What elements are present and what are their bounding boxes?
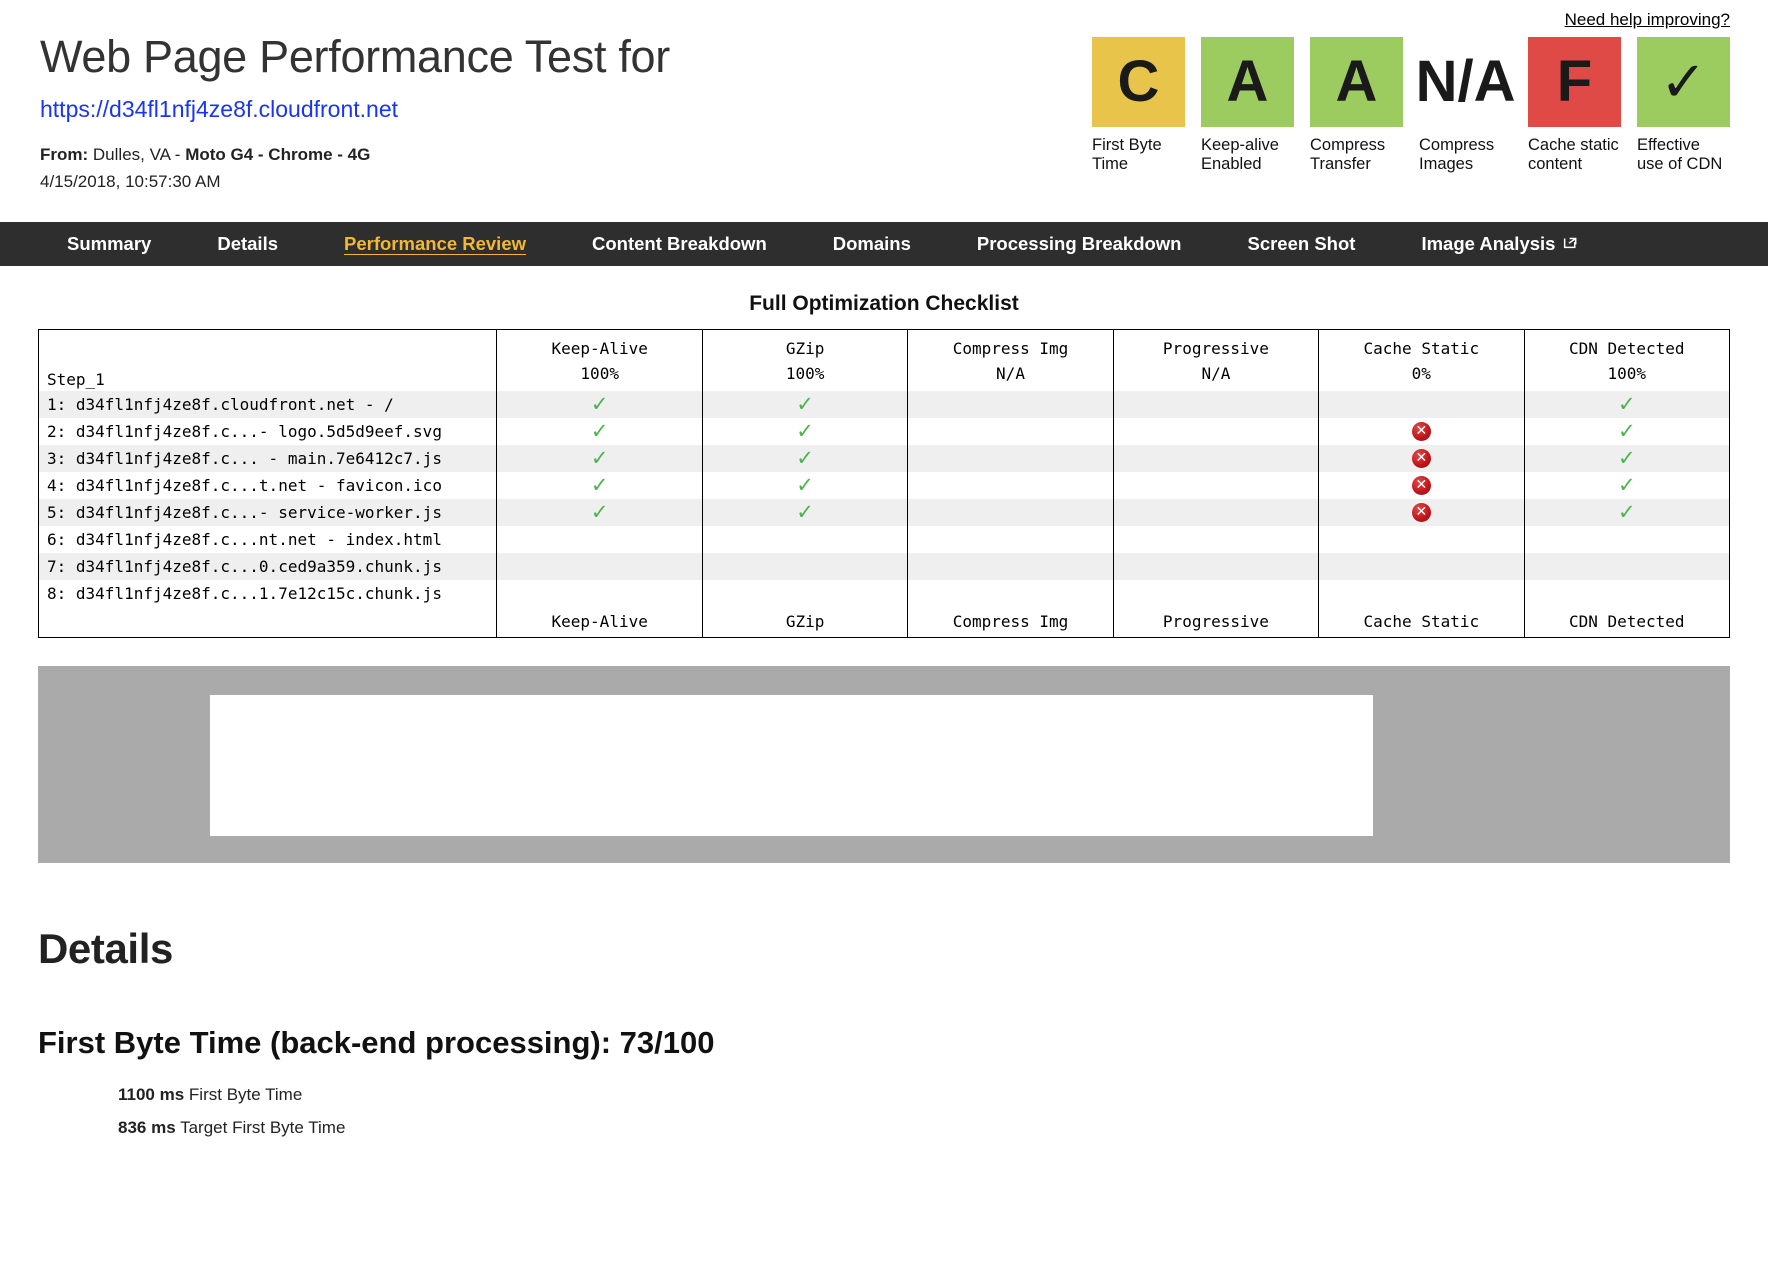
empty-cell-progressive: [1113, 553, 1318, 580]
empty-cell-compress-img: [908, 418, 1113, 445]
external-link-icon: [1562, 222, 1579, 266]
check-icon-keep-alive: ✓: [497, 472, 702, 499]
check-icon: ✓: [1618, 502, 1636, 523]
check-icon: ✓: [796, 421, 814, 442]
check-icon-gzip: ✓: [702, 445, 907, 472]
first-byte-time-heading: First Byte Time (back-end processing): 7…: [38, 1025, 1730, 1061]
footer-compress-img: Compress Img: [908, 607, 1113, 638]
footer-cache-static: Cache Static: [1319, 607, 1524, 638]
nav-tab-domains[interactable]: Domains: [800, 222, 944, 266]
grade-badge-label: Effective use of CDN: [1637, 136, 1730, 175]
check-icon-gzip: ✓: [702, 472, 907, 499]
empty-cell-cdn-detected: [1524, 553, 1729, 580]
empty-cell-keep-alive: [497, 553, 702, 580]
request-url-cell: 7: d34fl1nfj4ze8f.c...0.ced9a359.chunk.j…: [39, 553, 497, 580]
error-icon-cache-static: ✕: [1319, 445, 1524, 472]
empty-cell-compress-img: [908, 553, 1113, 580]
details-section: Details First Byte Time (back-end proces…: [0, 925, 1768, 1141]
check-icon-keep-alive: ✓: [497, 391, 702, 418]
empty-cell-keep-alive: [497, 580, 702, 607]
waterfall-placeholder-panel: [38, 666, 1730, 863]
checklist-table-head: Step_1 Keep-Alive 100% GZip 100% Compres…: [39, 330, 1730, 391]
checkmark-icon: ✓: [1637, 37, 1730, 127]
table-row: 1: d34fl1nfj4ze8f.cloudfront.net - /✓✓✓: [39, 391, 1730, 418]
nav-tab-processing-breakdown[interactable]: Processing Breakdown: [944, 222, 1215, 266]
metric-label: Target First Byte Time: [180, 1118, 345, 1137]
error-x-icon: ✕: [1412, 476, 1431, 495]
grade-compress-images[interactable]: N/A Compress Images: [1419, 37, 1512, 175]
empty-cell-keep-alive: [497, 526, 702, 553]
check-icon: ✓: [796, 394, 814, 415]
header-label: CDN Detected: [1529, 336, 1725, 361]
empty-cell-cache-static: [1319, 553, 1524, 580]
request-url-cell: 1: d34fl1nfj4ze8f.cloudfront.net - /: [39, 391, 497, 418]
main-navigation: Summary Details Performance Review Conte…: [0, 222, 1768, 266]
error-x-icon: ✕: [1412, 503, 1431, 522]
empty-cell-gzip: [702, 580, 907, 607]
header-compress-img: Compress Img N/A: [908, 330, 1113, 391]
page-header: Web Page Performance Test for https://d3…: [0, 0, 1768, 222]
checklist-table-foot: Keep-Alive GZip Compress Img Progressive…: [39, 607, 1730, 638]
header-label: Progressive: [1118, 336, 1314, 361]
header-percent: 0%: [1323, 361, 1519, 386]
header-label: Cache Static: [1323, 336, 1519, 361]
metric-value: 836 ms: [118, 1118, 176, 1137]
metric-row: 836 ms Target First Byte Time: [118, 1116, 1730, 1141]
metric-label: First Byte Time: [189, 1085, 302, 1104]
request-url-cell: 5: d34fl1nfj4ze8f.c...- service-worker.j…: [39, 499, 497, 526]
empty-cell-cache-static: [1319, 391, 1524, 418]
header-percent: 100%: [501, 361, 697, 386]
checklist-table-body: 1: d34fl1nfj4ze8f.cloudfront.net - /✓✓✓2…: [39, 391, 1730, 607]
nav-tab-details[interactable]: Details: [184, 222, 311, 266]
check-icon: ✓: [1618, 475, 1636, 496]
grade-badge-value: F: [1528, 37, 1621, 127]
header-keep-alive: Keep-Alive 100%: [497, 330, 702, 391]
grade-badges: C First Byte Time A Keep-alive Enabled A…: [1092, 37, 1730, 175]
check-icon-gzip: ✓: [702, 499, 907, 526]
metric-row: 1100 ms First Byte Time: [118, 1083, 1730, 1108]
grade-badge-value: N/A: [1419, 37, 1512, 127]
header-percent: 100%: [1529, 361, 1725, 386]
grade-badge-value: A: [1201, 37, 1294, 127]
grades-panel: Need help improving? C First Byte Time A…: [1092, 10, 1730, 175]
step-label: Step_1: [47, 370, 492, 389]
footer-progressive: Progressive: [1113, 607, 1318, 638]
check-icon: ✓: [591, 475, 609, 496]
header-percent: N/A: [912, 361, 1108, 386]
header-label: Keep-Alive: [501, 336, 697, 361]
nav-tab-image-analysis-label: Image Analysis: [1421, 222, 1555, 266]
empty-cell-compress-img: [908, 472, 1113, 499]
empty-cell-progressive: [1113, 472, 1318, 499]
empty-cell-progressive: [1113, 391, 1318, 418]
check-icon-cdn-detected: ✓: [1524, 472, 1729, 499]
table-row: 6: d34fl1nfj4ze8f.c...nt.net - index.htm…: [39, 526, 1730, 553]
header-cache-static: Cache Static 0%: [1319, 330, 1524, 391]
empty-cell-progressive: [1113, 445, 1318, 472]
check-icon-keep-alive: ✓: [497, 418, 702, 445]
nav-tab-summary[interactable]: Summary: [34, 222, 184, 266]
grade-badge-label: Keep-alive Enabled: [1201, 136, 1294, 175]
waterfall-placeholder-inner: [210, 695, 1373, 836]
check-icon: ✓: [591, 448, 609, 469]
grade-keep-alive-enabled[interactable]: A Keep-alive Enabled: [1201, 37, 1294, 175]
header-percent: N/A: [1118, 361, 1314, 386]
table-row: 5: d34fl1nfj4ze8f.c...- service-worker.j…: [39, 499, 1730, 526]
empty-cell-compress-img: [908, 445, 1113, 472]
empty-cell-gzip: [702, 553, 907, 580]
footer-spacer-cell: [39, 607, 497, 638]
empty-cell-cache-static: [1319, 526, 1524, 553]
error-icon-cache-static: ✕: [1319, 499, 1524, 526]
header-step-cell: Step_1: [39, 330, 497, 391]
grade-badge-label: Compress Transfer: [1310, 136, 1403, 175]
error-icon-cache-static: ✕: [1319, 472, 1524, 499]
optimization-checklist-table: Step_1 Keep-Alive 100% GZip 100% Compres…: [38, 329, 1730, 638]
empty-cell-gzip: [702, 526, 907, 553]
table-row: 7: d34fl1nfj4ze8f.c...0.ced9a359.chunk.j…: [39, 553, 1730, 580]
empty-cell-progressive: [1113, 526, 1318, 553]
table-row: 3: d34fl1nfj4ze8f.c... - main.7e6412c7.j…: [39, 445, 1730, 472]
check-icon-gzip: ✓: [702, 418, 907, 445]
check-icon: ✓: [796, 448, 814, 469]
grade-badge-value: C: [1092, 37, 1185, 127]
grade-badge-label: Cache static content: [1528, 136, 1621, 175]
header-percent: 100%: [707, 361, 903, 386]
header-label: GZip: [707, 336, 903, 361]
header-label: Compress Img: [912, 336, 1108, 361]
empty-cell-compress-img: [908, 580, 1113, 607]
from-location: Dulles, VA -: [93, 145, 185, 164]
test-date: 4/15/2018, 10:57:30 AM: [40, 172, 860, 192]
header-progressive: Progressive N/A: [1113, 330, 1318, 391]
grade-badge-label: Compress Images: [1419, 136, 1512, 175]
empty-cell-compress-img: [908, 391, 1113, 418]
page-title: Web Page Performance Test for: [40, 32, 860, 82]
check-icon-keep-alive: ✓: [497, 445, 702, 472]
check-icon: ✓: [1618, 448, 1636, 469]
request-url-cell: 2: d34fl1nfj4ze8f.c...- logo.5d5d9eef.sv…: [39, 418, 497, 445]
metric-value: 1100 ms: [118, 1085, 184, 1104]
request-url-cell: 8: d34fl1nfj4ze8f.c...1.7e12c15c.chunk.j…: [39, 580, 497, 607]
grade-badge-label: First Byte Time: [1092, 136, 1185, 175]
check-icon: ✓: [1618, 394, 1636, 415]
footer-cdn-detected: CDN Detected: [1524, 607, 1729, 638]
first-byte-time-metrics: 1100 ms First Byte Time 836 ms Target Fi…: [118, 1083, 1730, 1141]
details-heading: Details: [38, 925, 1730, 973]
empty-cell-cdn-detected: [1524, 580, 1729, 607]
nav-tab-content-breakdown[interactable]: Content Breakdown: [559, 222, 800, 266]
empty-cell-progressive: [1113, 499, 1318, 526]
footer-keep-alive: Keep-Alive: [497, 607, 702, 638]
check-icon-gzip: ✓: [702, 391, 907, 418]
nav-tab-image-analysis[interactable]: Image Analysis: [1388, 222, 1612, 266]
check-icon-cdn-detected: ✓: [1524, 391, 1729, 418]
table-row: 4: d34fl1nfj4ze8f.c...t.net - favicon.ic…: [39, 472, 1730, 499]
from-device: Moto G4 - Chrome - 4G: [185, 145, 370, 164]
table-row: 2: d34fl1nfj4ze8f.c...- logo.5d5d9eef.sv…: [39, 418, 1730, 445]
table-row: 8: d34fl1nfj4ze8f.c...1.7e12c15c.chunk.j…: [39, 580, 1730, 607]
grade-compress-transfer[interactable]: A Compress Transfer: [1310, 37, 1403, 175]
nav-tab-performance-review[interactable]: Performance Review: [311, 222, 559, 266]
check-icon: ✓: [591, 394, 609, 415]
check-icon: ✓: [796, 502, 814, 523]
empty-cell-progressive: [1113, 580, 1318, 607]
grade-first-byte-time[interactable]: C First Byte Time: [1092, 37, 1185, 175]
empty-cell-cache-static: [1319, 580, 1524, 607]
from-label: From:: [40, 145, 88, 164]
empty-cell-progressive: [1113, 418, 1318, 445]
check-icon: ✓: [591, 421, 609, 442]
nav-tab-screen-shot[interactable]: Screen Shot: [1214, 222, 1388, 266]
check-icon: ✓: [796, 475, 814, 496]
header-cdn-detected: CDN Detected 100%: [1524, 330, 1729, 391]
error-x-icon: ✕: [1412, 422, 1431, 441]
grade-effective-use-of-cdn[interactable]: ✓ Effective use of CDN: [1637, 37, 1730, 175]
footer-gzip: GZip: [702, 607, 907, 638]
request-url-cell: 3: d34fl1nfj4ze8f.c... - main.7e6412c7.j…: [39, 445, 497, 472]
request-url-cell: 6: d34fl1nfj4ze8f.c...nt.net - index.htm…: [39, 526, 497, 553]
error-x-icon: ✕: [1412, 449, 1431, 468]
table-footer-row: Keep-Alive GZip Compress Img Progressive…: [39, 607, 1730, 638]
empty-cell-compress-img: [908, 526, 1113, 553]
check-icon: ✓: [1618, 421, 1636, 442]
check-icon-cdn-detected: ✓: [1524, 418, 1729, 445]
empty-cell-compress-img: [908, 499, 1113, 526]
error-icon-cache-static: ✕: [1319, 418, 1524, 445]
check-icon-cdn-detected: ✓: [1524, 445, 1729, 472]
check-icon-keep-alive: ✓: [497, 499, 702, 526]
table-header-row: Step_1 Keep-Alive 100% GZip 100% Compres…: [39, 330, 1730, 391]
header-gzip: GZip 100%: [702, 330, 907, 391]
grade-cache-static-content[interactable]: F Cache static content: [1528, 37, 1621, 175]
grade-badge-value: A: [1310, 37, 1403, 127]
page-root: Web Page Performance Test for https://d3…: [0, 0, 1768, 1141]
title-block: Web Page Performance Test for https://d3…: [40, 32, 860, 192]
checklist-section: Full Optimization Checklist Step_1 Keep-…: [0, 292, 1768, 638]
check-icon-cdn-detected: ✓: [1524, 499, 1729, 526]
test-location-line: From: Dulles, VA - Moto G4 - Chrome - 4G: [40, 145, 860, 165]
checklist-title: Full Optimization Checklist: [38, 292, 1730, 316]
tested-url-link[interactable]: https://d34fl1nfj4ze8f.cloudfront.net: [40, 96, 398, 123]
need-help-improving-link[interactable]: Need help improving?: [1565, 10, 1730, 30]
request-url-cell: 4: d34fl1nfj4ze8f.c...t.net - favicon.ic…: [39, 472, 497, 499]
empty-cell-cdn-detected: [1524, 526, 1729, 553]
check-icon: ✓: [591, 502, 609, 523]
